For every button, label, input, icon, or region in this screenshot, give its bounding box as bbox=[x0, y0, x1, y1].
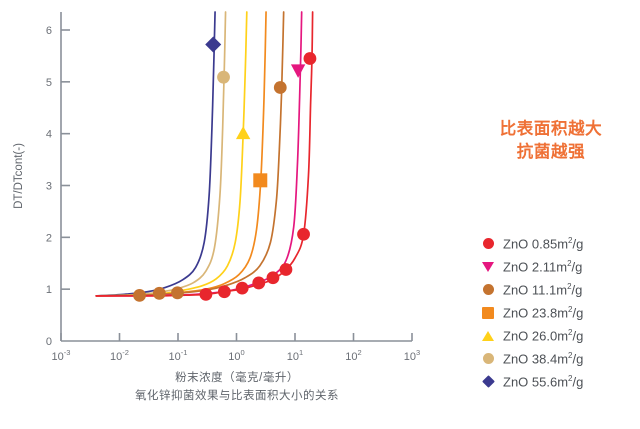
figure-caption-text: 氧化锌抑菌效果与比表面积大小的关系 bbox=[61, 387, 413, 405]
legend-marker-circle-icon bbox=[480, 351, 496, 367]
headline-text: 比表面积越大 抗菌越强 bbox=[462, 118, 640, 164]
series-curves bbox=[96, 12, 312, 296]
y-tick-label: 2 bbox=[46, 232, 52, 244]
legend-item-label: ZnO 38.4m2/g bbox=[503, 351, 583, 366]
data-point-marker bbox=[217, 71, 230, 84]
legend-item-label: ZnO 26.0m2/g bbox=[503, 328, 583, 343]
legend-item-label: ZnO 2.11m2/g bbox=[503, 259, 582, 274]
series-curve bbox=[96, 12, 301, 296]
series-markers bbox=[133, 37, 316, 302]
data-point-marker bbox=[171, 286, 184, 299]
series-curve bbox=[96, 12, 283, 296]
data-point-marker bbox=[304, 52, 317, 65]
series-curve bbox=[96, 12, 225, 296]
x-axis-title-text: 粉末浓度（毫克/毫升） bbox=[61, 370, 413, 387]
data-point-marker bbox=[291, 64, 305, 78]
x-tick-label: 100 bbox=[228, 348, 244, 363]
data-point-marker bbox=[236, 282, 249, 295]
legend-item[interactable]: ZnO 11.1m2/g bbox=[480, 278, 640, 301]
legend: ZnO 0.85m2/gZnO 2.11m2/gZnO 11.1m2/gZnO … bbox=[480, 232, 640, 393]
legend-item[interactable]: ZnO 55.6m2/g bbox=[480, 370, 640, 393]
y-tick-label: 1 bbox=[46, 284, 52, 296]
legend-marker-square-icon bbox=[480, 305, 496, 321]
data-point-marker bbox=[274, 81, 287, 94]
legend-item[interactable]: ZnO 0.85m2/g bbox=[480, 232, 640, 255]
data-point-marker bbox=[153, 287, 166, 300]
data-point-marker bbox=[218, 285, 231, 298]
right-panel: 比表面积越大 抗菌越强 ZnO 0.85m2/gZnO 2.11m2/gZnO … bbox=[462, 0, 640, 429]
headline-line-1: 比表面积越大 bbox=[462, 118, 640, 141]
chart-plot: 0123456 10-310-210-1100101102103 DT/DTco… bbox=[0, 0, 460, 429]
y-tick-marks bbox=[61, 30, 70, 289]
data-point-marker bbox=[133, 289, 146, 302]
x-tick-label: 103 bbox=[404, 348, 420, 363]
y-tick-label: 6 bbox=[46, 25, 52, 37]
x-tick-label: 10-1 bbox=[169, 348, 188, 363]
y-tick-label: 0 bbox=[46, 336, 52, 348]
legend-item[interactable]: ZnO 26.0m2/g bbox=[480, 324, 640, 347]
data-point-marker bbox=[253, 173, 267, 187]
series-curve bbox=[96, 12, 312, 296]
axis-group bbox=[61, 12, 412, 341]
x-tick-marks bbox=[61, 333, 412, 341]
data-point-marker bbox=[297, 228, 310, 241]
figure-container: 0123456 10-310-210-1100101102103 DT/DTco… bbox=[0, 0, 640, 429]
legend-marker-triangle-up-icon bbox=[480, 328, 496, 344]
y-tick-labels: 0123456 bbox=[46, 25, 52, 348]
legend-marker-triangle-down-icon bbox=[480, 259, 496, 275]
series-curve bbox=[96, 12, 266, 296]
data-point-marker bbox=[236, 126, 250, 139]
y-tick-label: 3 bbox=[46, 181, 52, 193]
series-curve bbox=[96, 12, 215, 296]
y-tick-label: 5 bbox=[46, 77, 52, 89]
data-point-marker bbox=[252, 277, 265, 290]
x-tick-label: 10-2 bbox=[110, 348, 129, 363]
data-point-marker bbox=[200, 288, 213, 301]
x-tick-label: 102 bbox=[345, 348, 361, 363]
x-tick-labels: 10-310-210-1100101102103 bbox=[52, 348, 421, 363]
legend-item[interactable]: ZnO 38.4m2/g bbox=[480, 347, 640, 370]
legend-item-label: ZnO 11.1m2/g bbox=[503, 282, 582, 297]
legend-item-label: ZnO 0.85m2/g bbox=[503, 236, 583, 251]
legend-marker-diamond-icon bbox=[480, 374, 496, 390]
y-axis-title: DT/DTcont(-) bbox=[13, 143, 25, 209]
legend-item-label: ZnO 23.8m2/g bbox=[503, 305, 583, 320]
legend-marker-circle-icon bbox=[480, 282, 496, 298]
legend-marker-circle-icon bbox=[480, 236, 496, 252]
data-point-marker bbox=[280, 263, 293, 276]
data-point-marker bbox=[267, 271, 280, 284]
legend-item[interactable]: ZnO 23.8m2/g bbox=[480, 301, 640, 324]
x-tick-label: 101 bbox=[287, 348, 303, 363]
y-tick-label: 4 bbox=[46, 129, 52, 141]
caption-block: 粉末浓度（毫克/毫升） 氧化锌抑菌效果与比表面积大小的关系 bbox=[61, 370, 413, 405]
headline-line-2: 抗菌越强 bbox=[462, 141, 640, 164]
x-tick-label: 10-3 bbox=[52, 348, 71, 363]
legend-item-label: ZnO 55.6m2/g bbox=[503, 374, 583, 389]
legend-item[interactable]: ZnO 2.11m2/g bbox=[480, 255, 640, 278]
data-point-marker bbox=[205, 37, 221, 53]
